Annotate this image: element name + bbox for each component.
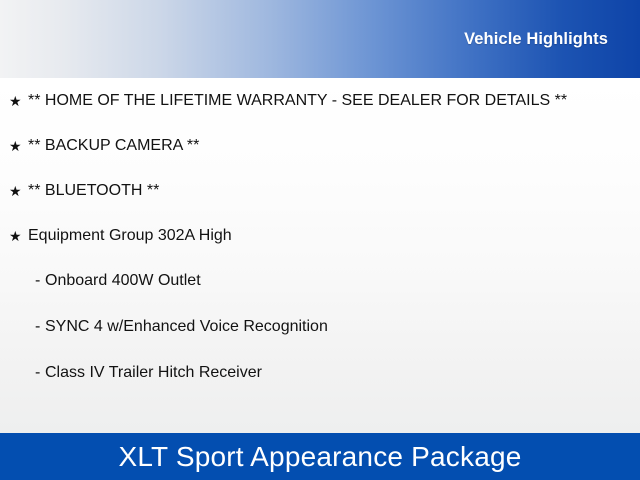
star-icon: ★ [8, 225, 28, 247]
footer-title: XLT Sport Appearance Package [118, 442, 521, 472]
highlights-list: ★ ** HOME OF THE LIFETIME WARRANTY - SEE… [8, 90, 614, 384]
list-item: ★ ** BACKUP CAMERA ** [8, 135, 614, 157]
dash-icon: - [34, 316, 45, 338]
list-item-label: ** HOME OF THE LIFETIME WARRANTY - SEE D… [28, 90, 614, 112]
list-item: - Onboard 400W Outlet [8, 270, 614, 292]
dash-icon: - [34, 362, 45, 384]
list-item: ★ ** HOME OF THE LIFETIME WARRANTY - SEE… [8, 90, 614, 112]
header-banner: Vehicle Highlights [0, 0, 640, 78]
vehicle-highlights-slide: Vehicle Highlights ★ ** HOME OF THE LIFE… [0, 0, 640, 480]
list-item-label: Class IV Trailer Hitch Receiver [45, 362, 614, 384]
list-item-label: Onboard 400W Outlet [45, 270, 614, 292]
star-icon: ★ [8, 135, 28, 157]
page-title: Vehicle Highlights [464, 30, 608, 49]
dash-icon: - [34, 270, 45, 292]
list-item-label: SYNC 4 w/Enhanced Voice Recognition [45, 316, 614, 338]
highlights-body: ★ ** HOME OF THE LIFETIME WARRANTY - SEE… [0, 78, 640, 433]
list-item: ★ Equipment Group 302A High [8, 225, 614, 247]
footer-banner: XLT Sport Appearance Package [0, 433, 640, 480]
list-item-label: ** BACKUP CAMERA ** [28, 135, 614, 157]
list-item: - SYNC 4 w/Enhanced Voice Recognition [8, 316, 614, 338]
star-icon: ★ [8, 180, 28, 202]
list-item: - Class IV Trailer Hitch Receiver [8, 362, 614, 384]
list-item: ★ ** BLUETOOTH ** [8, 180, 614, 202]
list-item-label: ** BLUETOOTH ** [28, 180, 614, 202]
list-item-label: Equipment Group 302A High [28, 225, 614, 247]
star-icon: ★ [8, 90, 28, 112]
